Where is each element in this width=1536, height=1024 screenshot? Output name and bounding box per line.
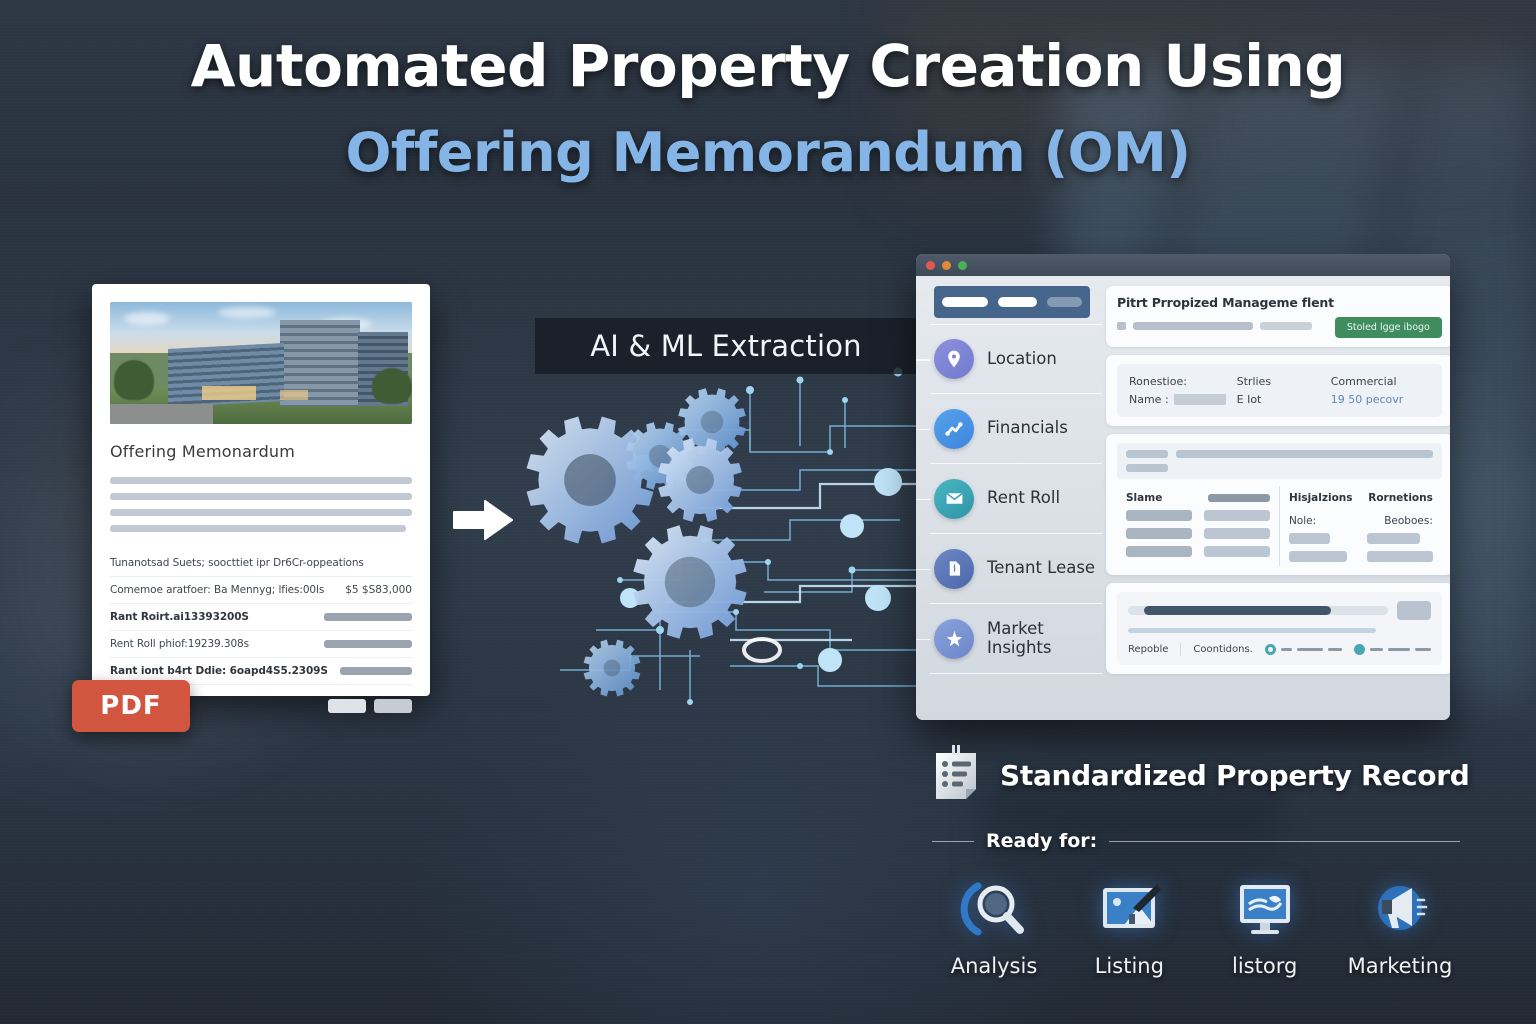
- document-placeholder-bars: [110, 477, 412, 532]
- summary-value-stories: E Iot: [1237, 393, 1327, 406]
- row-value-bar: [324, 640, 412, 648]
- table-cell: Nole:: [1289, 515, 1316, 527]
- connector-line: [916, 429, 930, 431]
- nav-pill-active[interactable]: [942, 297, 988, 307]
- sidebar-item-tenant-lease[interactable]: Tenant Lease: [930, 534, 1102, 604]
- summary-key-type: Ronestioe:: [1129, 375, 1233, 388]
- summary-value-name: Name :: [1129, 393, 1233, 406]
- ready-for-label: Ready for:: [986, 830, 1097, 852]
- table-row: Rant Roirt.ai13393200S: [110, 604, 412, 631]
- sidebar-item-label: Location: [987, 350, 1057, 368]
- ai-extraction-banner: AI & ML Extraction: [535, 318, 917, 374]
- sidebar-item-financials[interactable]: Financials: [930, 394, 1102, 464]
- table-column-left: Slame: [1117, 486, 1279, 566]
- row-label: Tunanotsad Suets; soocttiet ipr Dr6Cr-op…: [110, 557, 364, 569]
- table-cells: [1126, 510, 1270, 557]
- property-header-card: Pitrt Prropized Manageme flent Stoled lg…: [1106, 286, 1450, 347]
- progress-label: Coontidons.: [1193, 644, 1252, 655]
- footer-chip: [328, 699, 366, 713]
- column-header: Rornetions: [1368, 492, 1433, 504]
- ring-icon: [1265, 644, 1276, 655]
- progress-chip: [1397, 601, 1431, 620]
- sidebar-item-label: Market Insights: [987, 620, 1102, 657]
- dot-icon: [1354, 644, 1365, 655]
- maximize-traffic-light[interactable]: [958, 261, 967, 270]
- sidebar-item-rent-roll[interactable]: Rent Roll: [930, 464, 1102, 534]
- row-value-bar: [324, 613, 412, 621]
- table-cell: Beoboes:: [1384, 515, 1433, 527]
- row-label: Comemoe aratfoer: Ba Mennyg; lfies:00ls: [110, 584, 324, 596]
- minimize-traffic-light[interactable]: [942, 261, 951, 270]
- ready-item-label: listorg: [1232, 954, 1297, 978]
- footer-chip: [374, 699, 412, 713]
- column-header: Slame: [1126, 492, 1162, 504]
- row-value-bar: [340, 667, 412, 675]
- sidebar-item-market-insights[interactable]: Market Insights: [930, 604, 1102, 674]
- summary-value-commercial: 19 50 pecovr: [1331, 393, 1430, 406]
- ready-for-icons: Analysis Listing: [930, 878, 1464, 978]
- sidebar-item-location[interactable]: Location: [930, 324, 1102, 394]
- table-row: Comemoe aratfoer: Ba Mennyg; lfies:00ls …: [110, 577, 412, 604]
- property-management-window[interactable]: Location Financials: [916, 254, 1450, 720]
- table-row: Rent Roll phiof:19239.308s: [110, 631, 412, 658]
- clipboard-list-icon: [930, 745, 982, 806]
- ready-item-label: Analysis: [951, 954, 1038, 978]
- page-title: Automated Property Creation Using Offeri…: [0, 36, 1536, 182]
- standardized-record-label: Standardized Property Record: [1000, 759, 1469, 792]
- ai-circuit-graphic: [500, 330, 940, 730]
- pdf-badge: PDF: [72, 680, 190, 732]
- trend-line-icon: [934, 409, 974, 449]
- magnifier-icon: [960, 878, 1028, 945]
- document-title: Offering Memonardum: [110, 442, 412, 461]
- extraction-category-list: Location Financials: [930, 324, 1102, 674]
- monitor-icon: [1231, 878, 1299, 945]
- envelope-icon: [934, 479, 974, 519]
- content-panel: Pitrt Prropized Manageme flent Stoled lg…: [1102, 276, 1450, 720]
- status-badge[interactable]: Stoled lgge ibogo: [1335, 317, 1442, 338]
- progress-bar-secondary: [1128, 628, 1376, 633]
- table-row: Tunanotsad Suets; soocttiet ipr Dr6Cr-op…: [110, 550, 412, 577]
- sidebar-item-label: Rent Roll: [987, 489, 1060, 507]
- ready-item-analysis[interactable]: Analysis: [930, 878, 1058, 978]
- document-icon: [934, 549, 974, 589]
- window-titlebar: [916, 254, 1450, 276]
- ready-item-label: Marketing: [1348, 954, 1453, 978]
- connector-line: [916, 499, 930, 501]
- star-icon: [934, 619, 974, 659]
- row-label: Rant iont b4rt Ddie: 6oapd4S5.2309S: [110, 665, 328, 677]
- column-header: Hisjalzions: [1289, 492, 1353, 504]
- table-toolbar: [1117, 443, 1442, 479]
- sidebar: Location Financials: [916, 276, 1102, 720]
- document-data-rows: Tunanotsad Suets; soocttiet ipr Dr6Cr-op…: [110, 550, 412, 685]
- ready-for-row: Ready for:: [932, 830, 1460, 852]
- table-column-right: Hisjalzions Rornetions Nole: Beoboes:: [1279, 486, 1442, 566]
- table-cells: [1289, 533, 1433, 562]
- connector-line: [916, 359, 930, 361]
- summary-key-commercial: Commercial: [1331, 375, 1430, 388]
- nav-pill-second[interactable]: [998, 297, 1037, 307]
- row-label: Rant Roirt.ai13393200S: [110, 611, 249, 623]
- divider: [1109, 841, 1460, 842]
- ready-item-listorg[interactable]: listorg: [1201, 878, 1329, 978]
- progress-bar: [1128, 606, 1388, 615]
- property-table-card: Slame Hisjalzions Rornetions: [1106, 434, 1450, 575]
- stat-ring: [1265, 644, 1342, 655]
- ready-item-listing[interactable]: Listing: [1065, 878, 1193, 978]
- map-pin-icon: [934, 339, 974, 379]
- megaphone-icon: [1366, 878, 1434, 945]
- ready-item-marketing[interactable]: Marketing: [1336, 878, 1464, 978]
- ai-extraction-label: AI & ML Extraction: [590, 329, 861, 363]
- title-line-primary: Automated Property Creation Using: [0, 36, 1536, 97]
- divider: [932, 841, 974, 842]
- nav-pill-inactive[interactable]: [1047, 297, 1082, 307]
- building-photo: [110, 302, 412, 424]
- property-progress-card: Repoble Coontidons.: [1106, 583, 1450, 674]
- sidebar-item-label: Tenant Lease: [987, 559, 1095, 577]
- stat-dot: [1354, 644, 1431, 655]
- card-title: Pitrt Prropized Manageme flent: [1117, 295, 1442, 310]
- offering-memorandum-document[interactable]: Offering Memonardum Tunanotsad Suets; so…: [92, 284, 430, 696]
- progress-label: Repoble: [1128, 644, 1168, 655]
- standardized-record-row: Standardized Property Record: [930, 745, 1469, 806]
- sidebar-item-label: Financials: [987, 419, 1068, 437]
- connector-line: [916, 639, 930, 641]
- close-traffic-light[interactable]: [926, 261, 935, 270]
- card-subtitle: [1117, 322, 1325, 333]
- ready-item-label: Listing: [1095, 954, 1164, 978]
- summary-key-stories: Strlies: [1237, 375, 1327, 388]
- row-label: Rent Roll phiof:19239.308s: [110, 638, 249, 650]
- title-line-accent: Offering Memorandum (OM): [0, 125, 1536, 182]
- property-summary-card: Ronestioe: Name : Strlies E Iot Commerci…: [1106, 355, 1450, 426]
- house-photo-icon: [1095, 878, 1163, 945]
- sidebar-nav-bar[interactable]: [934, 286, 1090, 318]
- row-value: $5 $S83,000: [345, 584, 412, 596]
- connector-line: [916, 569, 930, 571]
